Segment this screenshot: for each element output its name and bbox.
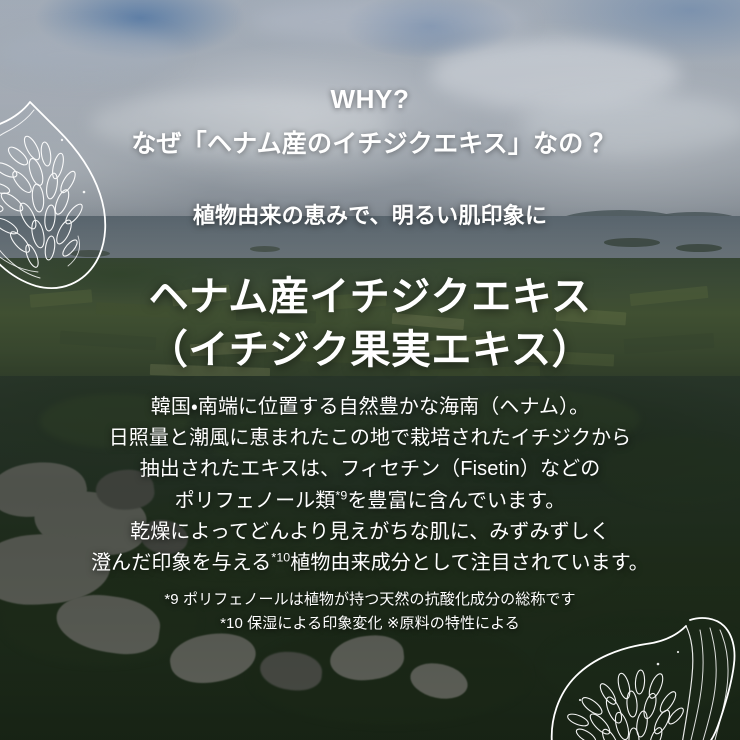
footnote-10: *10 保湿による印象変化 ※原料の特性による — [0, 612, 740, 636]
body-line-5: 乾燥によってどんより見えがちな肌に、みずみずしく — [0, 517, 740, 548]
polyphenol-text-post: を豊富に含んでいます。 — [347, 490, 565, 512]
why-figs-extract-banner: WHY? なぜ「ヘナム産のイチジクエキス」なの？ 植物由来の恵みで、明るい肌印象… — [0, 0, 740, 740]
title-line-1: ヘナム産イチジクエキス — [0, 271, 740, 324]
title-line-2: （イチジク果実エキス） — [0, 324, 740, 377]
footnotes: *9 ポリフェノールは植物が持つ天然の抗酸化成分の総称です *10 保湿による印… — [0, 588, 740, 637]
body-line-1: 韓国・南端に位置する自然豊かな海南（ヘナム）。 — [0, 392, 740, 423]
body-line-3: 抽出されたエキスは、フィセチン（Fisetin）などの — [0, 454, 740, 485]
subheadline-question: なぜ「ヘナム産のイチジクエキス」なの？ — [0, 124, 740, 160]
footnote-9: *9 ポリフェノールは植物が持つ天然の抗酸化成分の総称です — [0, 588, 740, 612]
body-copy: 韓国・南端に位置する自然豊かな海南（ヘナム）。 日照量と潮風に恵まれたこの地で栽… — [0, 392, 740, 579]
lead-copy: 植物由来の恵みで、明るい肌印象に — [0, 198, 740, 230]
banner-content: WHY? なぜ「ヘナム産のイチジクエキス」なの？ 植物由来の恵みで、明るい肌印象… — [0, 0, 740, 740]
polyphenol-text-pre: ポリフェノール類 — [175, 490, 336, 512]
eyebrow-why: WHY? — [0, 84, 740, 115]
clear-text-post: 植物由来成分として注目されています。 — [290, 552, 649, 574]
clear-text-pre: 澄んだ印象を与える — [91, 552, 271, 574]
body-line-4: ポリフェノール類*9を豊富に含んでいます。 — [0, 486, 740, 517]
footnote-marker-9: *9 — [335, 488, 347, 502]
body-line-2: 日照量と潮風に恵まれたこの地で栽培されたイチジクから — [0, 423, 740, 454]
page-title: ヘナム産イチジクエキス （イチジク果実エキス） — [0, 271, 740, 377]
footnote-marker-10: *10 — [271, 550, 290, 564]
body-line-6: 澄んだ印象を与える*10植物由来成分として注目されています。 — [0, 548, 740, 579]
